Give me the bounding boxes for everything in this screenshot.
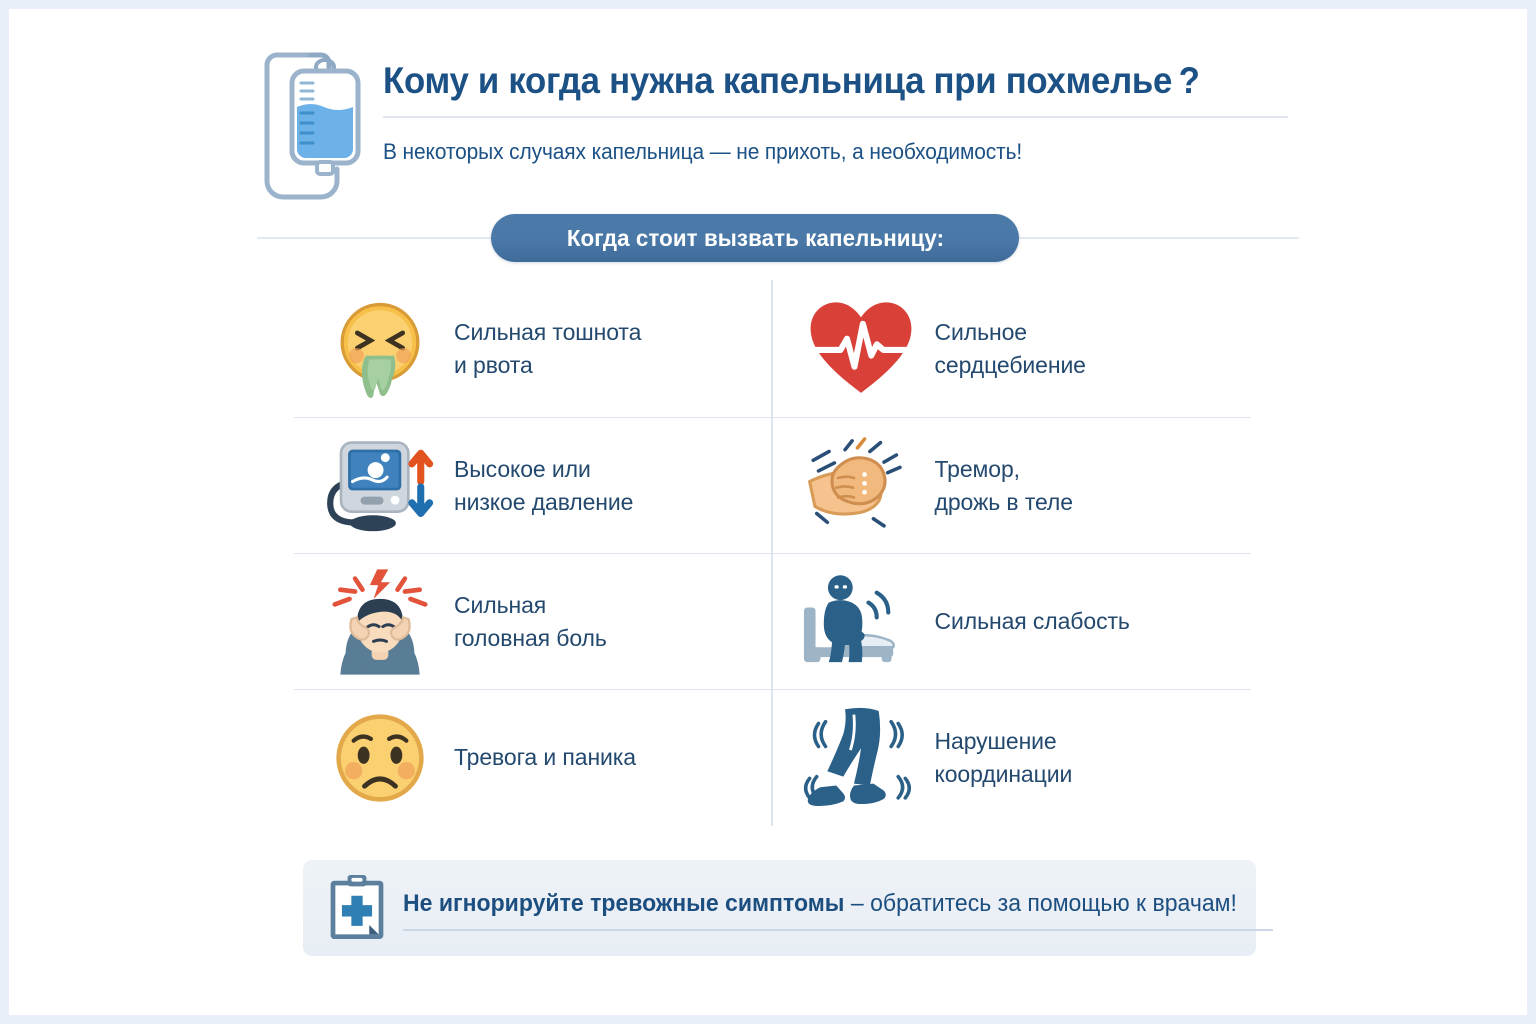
symptom-label: Сильная головная боль	[454, 589, 607, 655]
poster-header: Кому и когда нужна капельница при похмел…	[249, 37, 1314, 202]
symptom-label: Нарушение координации	[935, 725, 1073, 791]
section-banner-label: Когда стоит вызвать капельницу:	[566, 225, 943, 252]
symptom-item-nausea: Сильная тошнота и рвота	[294, 281, 773, 417]
section-banner: Когда стоит вызвать капельницу:	[491, 214, 1019, 262]
medical-clipboard-icon	[323, 871, 391, 945]
symptom-label: Высокое или низкое давление	[454, 453, 633, 519]
page-title: Кому и когда нужна капельница при похмел…	[383, 37, 1257, 103]
page-title-question-mark: ?	[1172, 60, 1200, 101]
footer-text-wrap: Не игнорируйте тревожные симптомы – обра…	[403, 886, 1273, 931]
page-subtitle: В некоторых случаях капельница — не прих…	[383, 139, 1267, 165]
iv-drip-bag-icon	[249, 41, 367, 211]
symptom-item-palpitations: Сильное сердцебиение	[773, 281, 1252, 417]
symptom-row: Сильная головная боль	[294, 553, 1251, 689]
symptom-grid: Сильная тошнота и рвота Сильное сердцеби…	[294, 281, 1251, 829]
symptom-row: Тревога и паника	[294, 689, 1251, 825]
symptom-label: Сильная слабость	[935, 605, 1130, 638]
headache-person-icon	[318, 562, 442, 682]
vomiting-face-icon	[318, 289, 442, 409]
section-banner-row: Когда стоит вызвать капельницу:	[257, 214, 1299, 262]
symptom-item-tremor: Тремор, дрожь в теле	[773, 418, 1252, 553]
symptom-label: Сильное сердцебиение	[935, 316, 1086, 382]
footer-message: Не игнорируйте тревожные симптомы – обра…	[403, 890, 1238, 918]
footer-message-rest: – обратитесь за помощью к врачам!	[844, 890, 1236, 917]
symptom-row: Высокое или низкое давление	[294, 417, 1251, 553]
title-divider	[383, 116, 1288, 118]
blood-pressure-monitor-icon	[318, 426, 442, 546]
unsteady-legs-icon	[799, 698, 923, 818]
worried-face-icon	[318, 698, 442, 818]
footer-divider	[403, 929, 1273, 931]
page-title-text: Кому и когда нужна капельница при похмел…	[383, 60, 1172, 101]
symptom-item-coordination: Нарушение координации	[773, 690, 1252, 825]
symptom-item-blood-pressure: Высокое или низкое давление	[294, 418, 773, 553]
infographic-poster: Кому и когда нужна капельница при похмел…	[0, 0, 1536, 1024]
symptom-item-weakness: Сильная слабость	[773, 554, 1252, 689]
footer-callout: Не игнорируйте тревожные симптомы – обра…	[303, 860, 1256, 956]
symptom-row: Сильная тошнота и рвота Сильное сердцеби…	[294, 281, 1251, 417]
trembling-hands-icon	[799, 426, 923, 546]
person-sitting-on-bed-icon	[799, 562, 923, 682]
symptom-item-anxiety: Тревога и паника	[294, 690, 773, 825]
symptom-label: Сильная тошнота и рвота	[454, 316, 641, 382]
heart-pulse-icon	[799, 289, 923, 409]
footer-message-bold: Не игнорируйте тревожные симптомы	[403, 890, 844, 917]
symptom-label: Тревога и паника	[454, 741, 636, 774]
symptom-label: Тремор, дрожь в теле	[935, 453, 1073, 519]
symptom-item-headache: Сильная головная боль	[294, 554, 773, 689]
header-text-block: Кому и когда нужна капельница при похмел…	[383, 37, 1313, 165]
